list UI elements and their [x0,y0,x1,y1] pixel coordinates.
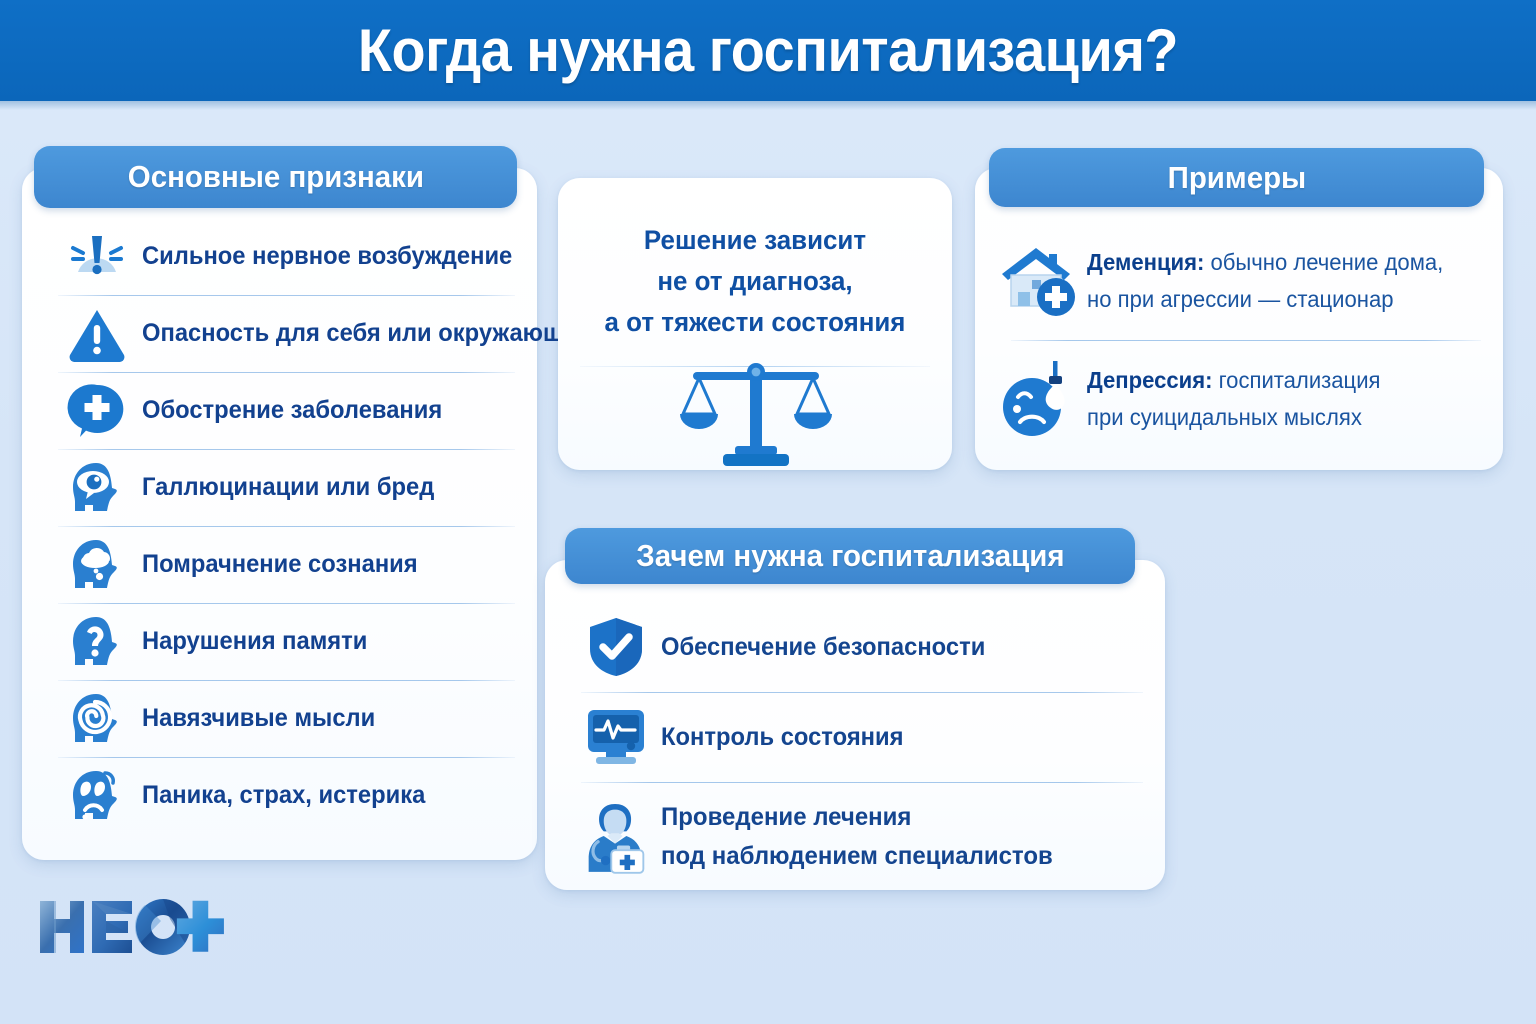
statement-line-3: а от тяжести состояния [566,302,944,343]
head-question-icon [64,609,130,675]
list-item-label: Помрачнение сознания [142,549,418,580]
signs-panel-header: Основные признаки [34,146,517,208]
example-lead: Депрессия: [1087,367,1212,393]
page-header: Когда нужна госпитализация? [0,0,1536,101]
list-item-label: Обеспечение безопасности [661,632,985,663]
example-line-1: обычно лечение дома, [1204,249,1443,275]
head-spiral-icon [64,686,130,752]
list-item[interactable]: Нарушения памяти [22,603,537,680]
house-medical-icon [995,235,1081,327]
signs-panel-title: Основные признаки [127,159,423,195]
why-panel-header: Зачем нужна госпитализация [565,528,1135,584]
page-title: Когда нужна госпитализация? [358,16,1178,85]
sad-face-noose-icon [995,353,1081,445]
list-item-label: Проведение лечения под наблюдением специ… [661,798,1053,876]
exclamation-burst-icon [64,224,130,290]
doctor-bag-icon [583,804,649,870]
list-item-label: Деменция: обычно лечение дома, но при аг… [1087,244,1443,319]
example-lead: Деменция: [1087,249,1204,275]
list-item[interactable]: Галлюцинации или бред [22,449,537,526]
list-item-label: Контроль состояния [661,722,903,753]
list-item[interactable]: Деменция: обычно лечение дома, но при аг… [975,222,1503,340]
examples-panel-title: Примеры [1167,160,1306,196]
neo-plus-logo[interactable] [36,895,236,959]
statement-line-2: не от диагноза, [566,261,944,302]
list-item[interactable]: Опасность для себя или окружающих [22,295,537,372]
list-item[interactable]: Обострение заболевания [22,372,537,449]
list-item-label: Навязчивые мысли [142,703,375,734]
examples-panel-header: Примеры [989,148,1484,207]
list-item-label: Депрессия: госпитализация при суицидальн… [1087,362,1380,437]
shield-check-icon [583,614,649,680]
why-line-1: Проведение лечения [661,803,911,831]
why-panel-title: Зачем нужна госпитализация [636,538,1064,574]
list-item[interactable]: Обеспечение безопасности [545,602,1165,692]
statement-line-1: Решение зависит [566,220,944,261]
head-eye-icon [64,455,130,521]
example-line-1: госпитализация [1212,367,1380,393]
example-line-2: при суицидальных мыслях [1087,404,1362,430]
why-line-2: под наблюдением специалистов [661,842,1053,870]
medical-cross-bubble-icon [64,378,130,444]
list-item[interactable]: Паника, страх, истерика [22,757,537,834]
list-item-label: Галлюцинации или бред [142,472,434,503]
examples-list: Деменция: обычно лечение дома, но при аг… [975,222,1503,458]
list-item[interactable]: Контроль состояния [545,692,1165,782]
head-panic-icon [64,763,130,829]
signs-list: Сильное нервное возбуждение Опасность дл… [22,218,537,834]
balance-scales-icon [675,358,837,475]
list-item[interactable]: Сильное нервное возбуждение [22,218,537,295]
list-item-label: Нарушения памяти [142,626,367,657]
list-item-label: Опасность для себя или окружающих [142,318,591,349]
warning-triangle-icon [64,301,130,367]
list-item[interactable]: Навязчивые мысли [22,680,537,757]
list-item[interactable]: Депрессия: госпитализация при суицидальн… [975,340,1503,458]
header-shadow [0,101,1536,110]
list-item[interactable]: Проведение лечения под наблюдением специ… [545,782,1165,892]
statement-text: Решение зависит не от диагноза, а от тяж… [566,220,944,343]
example-line-2: но при агрессии — стационар [1087,286,1394,312]
list-item-label: Паника, страх, истерика [142,780,425,811]
heart-monitor-icon [583,704,649,770]
head-cloud-icon [64,532,130,598]
why-list: Обеспечение безопасности Контроль состоя… [545,602,1165,892]
list-item[interactable]: Помрачнение сознания [22,526,537,603]
list-item-label: Обострение заболевания [142,395,442,426]
list-item-label: Сильное нервное возбуждение [142,241,512,272]
